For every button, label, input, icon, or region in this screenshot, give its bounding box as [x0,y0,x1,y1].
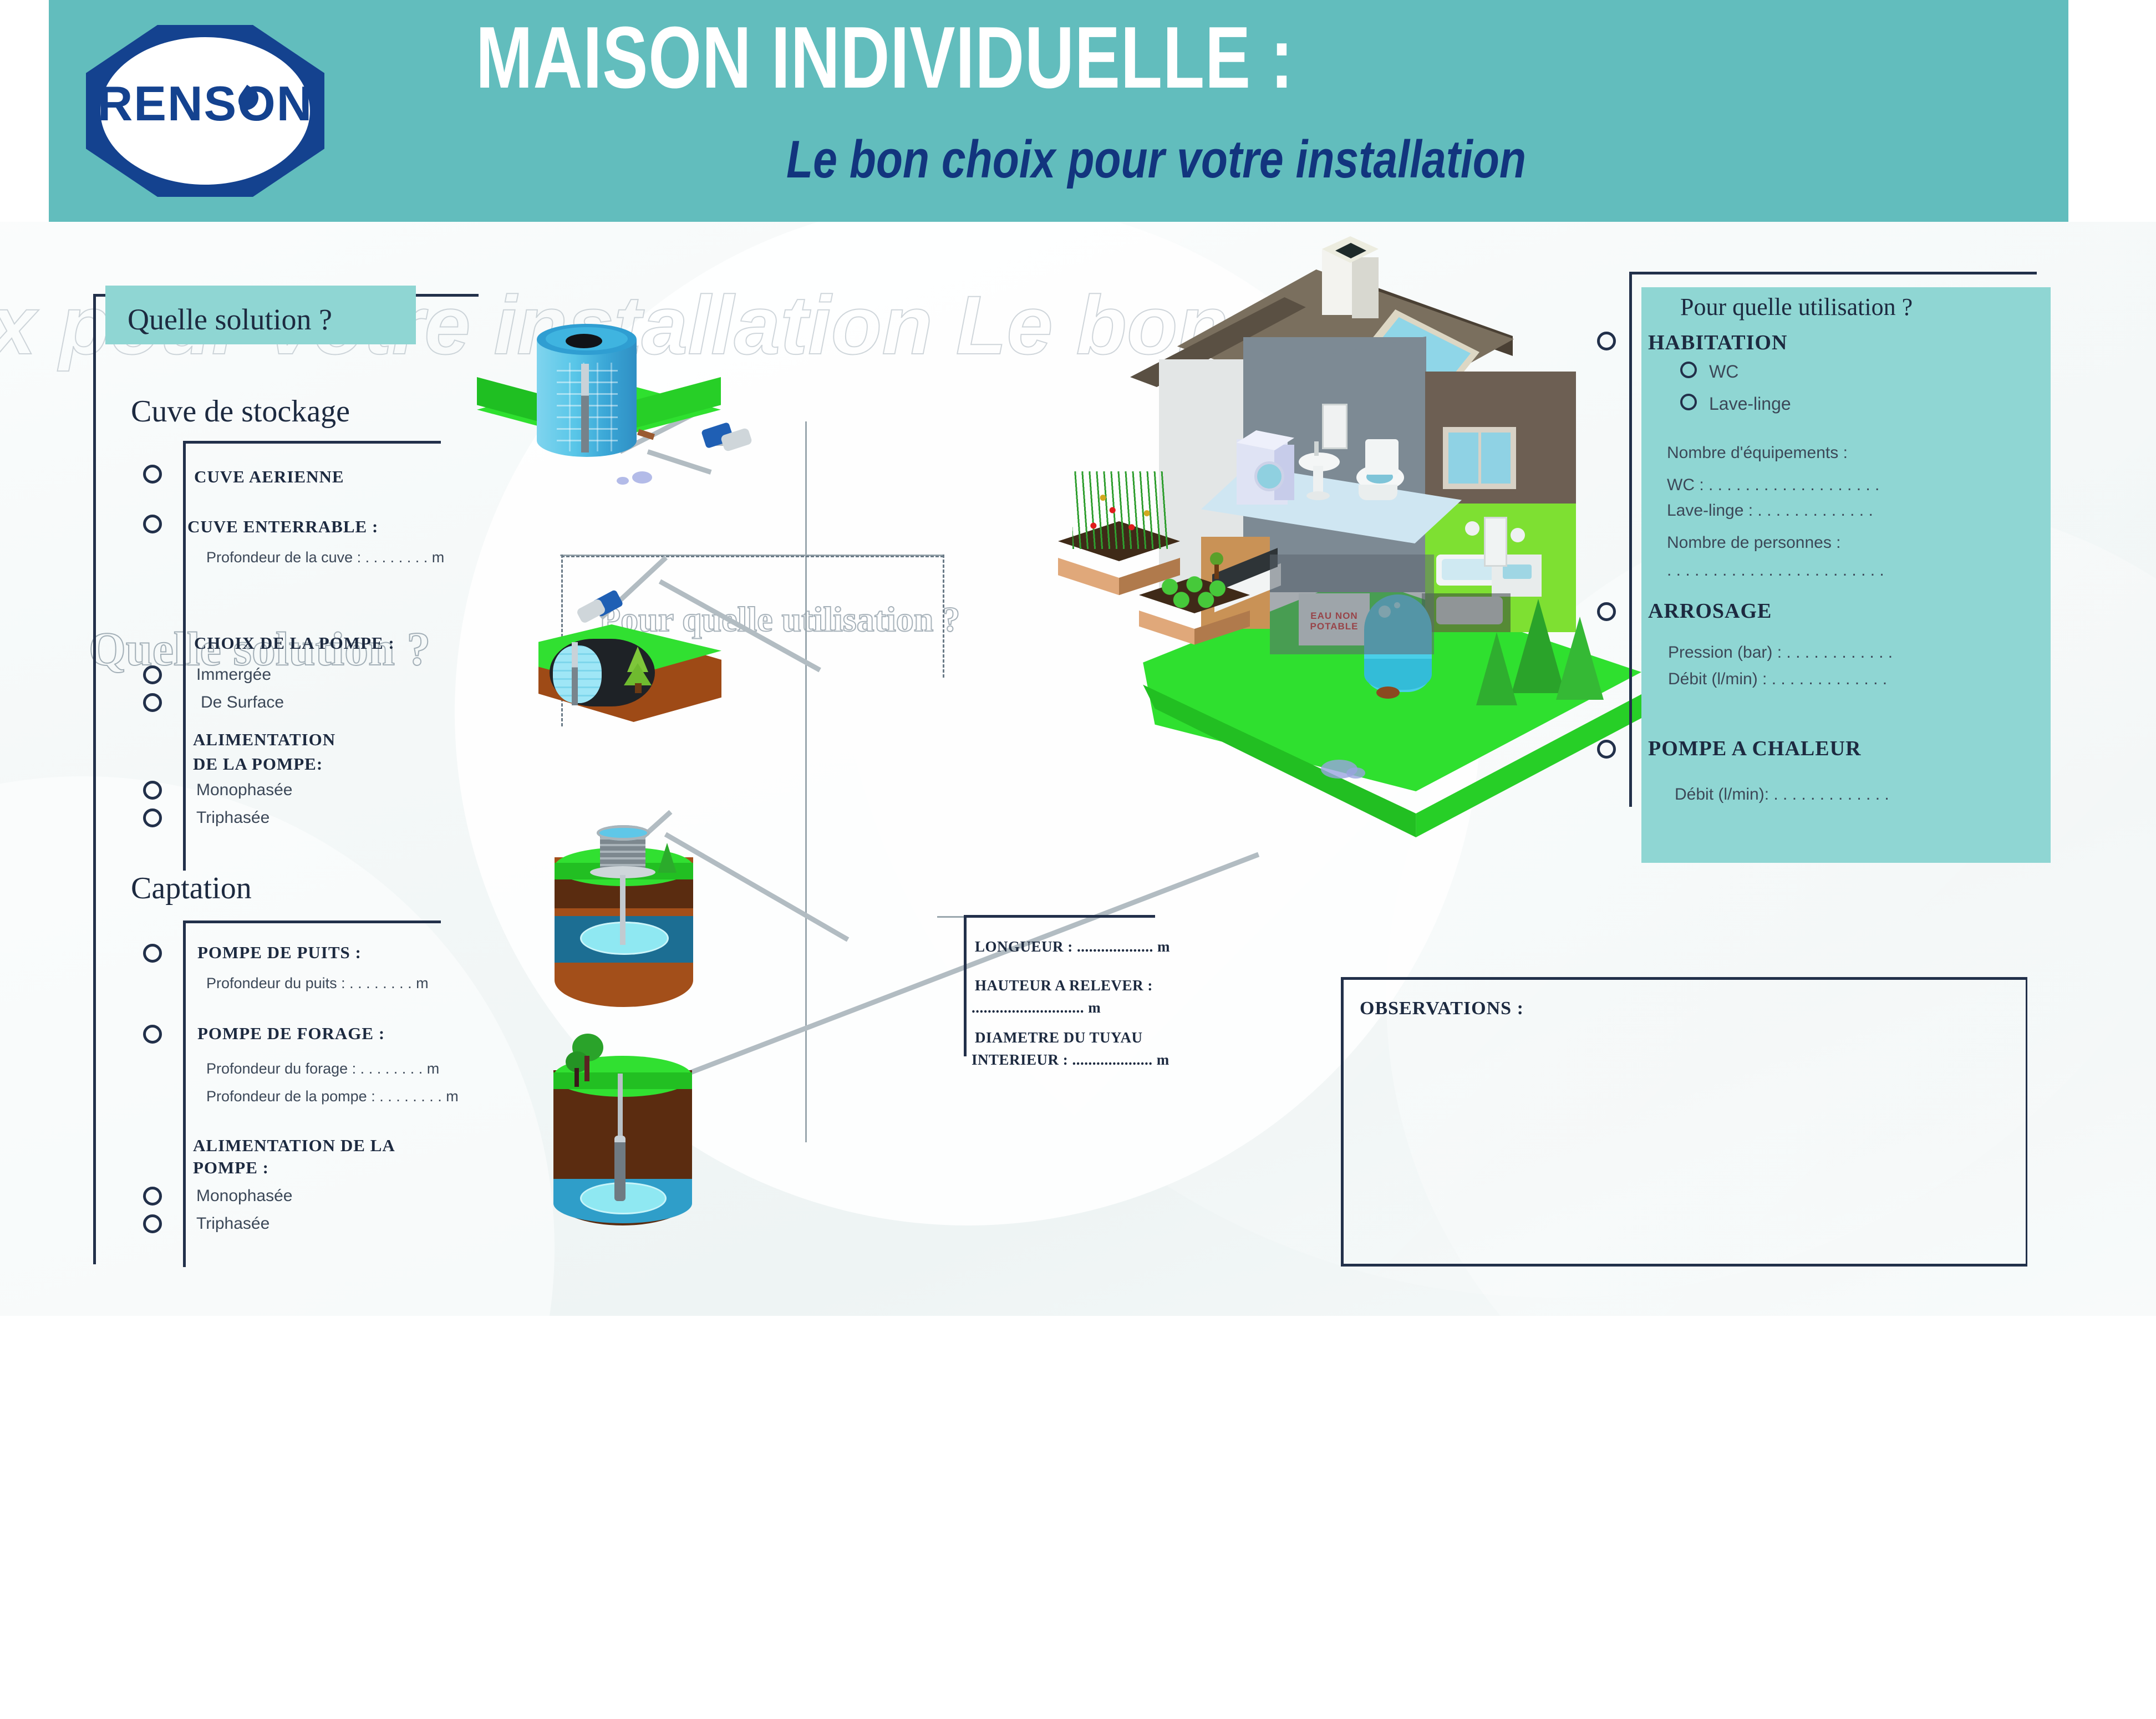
field-profondeur-cuve[interactable]: Profondeur de la cuve : . . . . . . . . … [206,549,444,566]
label-pompe-de-puits: POMPE DE PUITS : [197,943,362,963]
radio-storage-triphasee[interactable] [143,808,162,827]
observations-label: OBSERVATIONS : [1360,998,1524,1019]
radio-cuve-enterrable[interactable] [143,515,162,533]
field-longueur[interactable]: LONGUEUR : ................... m [975,938,1170,955]
well-pump-illustration [549,832,726,1031]
storage-supply-heading-line1: ALIMENTATION [193,730,335,750]
field-nombre-personnes: Nombre de personnes : [1667,533,1841,552]
field-wc-count[interactable]: WC : . . . . . . . . . . . . . . . . . .… [1667,476,1879,495]
field-profondeur-forage[interactable]: Profondeur du forage : . . . . . . . . m [206,1060,439,1077]
page-header: MAISON INDIVIDUELLE : Le bon choix pour … [49,0,2068,222]
radio-pompe-de-forage[interactable] [143,1025,162,1044]
label-capture-monophasee: Monophasée [196,1187,292,1206]
field-profondeur-puits[interactable]: Profondeur du puits : . . . . . . . . m [206,975,429,992]
radio-habitation[interactable] [1597,332,1616,350]
field-lave-linge-count[interactable]: Lave-linge : . . . . . . . . . . . . . [1667,501,1873,520]
connector-dashed-right [943,555,944,678]
left-panel-title: Quelle solution ? [128,302,332,337]
field-debit-pompe-chaleur[interactable]: Débit (l/min): . . . . . . . . . . . . . [1675,785,1889,804]
label-cuve-aerienne: CUVE AERIENNE [194,467,344,487]
field-hauteur-a-relever-value[interactable]: ............................ m [972,999,1101,1016]
field-diametre-tuyau-line1: DIAMETRE DU TUYAU [975,1029,1143,1046]
capture-heading: Captation [131,871,252,906]
page-subtitle: Le bon choix pour votre installation [786,133,1787,186]
radio-lave-linge[interactable] [1680,394,1697,410]
radio-pompe-de-surface[interactable] [143,693,162,712]
radio-pompe-immergee[interactable] [143,665,162,684]
label-arrosage: ARROSAGE [1648,599,1772,623]
logo-wordmark: RENSON [86,79,324,128]
header-left-margin [0,0,49,222]
header-right-margin [2068,0,2156,222]
aerial-storage-tank-illustration [471,311,738,494]
field-debit-arrosage[interactable]: Débit (l/min) : . . . . . . . . . . . . … [1668,670,1887,689]
label-wc: WC [1709,362,1738,382]
renson-logo: RENSON [86,25,324,197]
label-capture-triphasee: Triphasée [196,1214,269,1233]
field-nombre-equipements: Nombre d'équipements : [1667,444,1848,462]
buried-storage-tank-illustration [535,577,768,760]
radio-wc[interactable] [1680,362,1697,378]
field-hauteur-a-relever: HAUTEUR A RELEVER : [975,977,1153,994]
cutaway-house-illustration: EAU NON POTABLE [1048,244,1647,821]
label-lave-linge: Lave-linge [1709,394,1791,414]
label-storage-triphasee: Triphasée [196,808,269,827]
radio-storage-monophasee[interactable] [143,781,162,800]
page-title: MAISON INDIVIDUELLE : [476,14,1557,101]
borehole-pump-illustration [549,1031,726,1253]
right-panel-title: Pour quelle utilisation ? [1680,293,1913,321]
field-nombre-personnes-value[interactable]: . . . . . . . . . . . . . . . . . . . . … [1667,561,1884,580]
label-pompe-de-forage: POMPE DE FORAGE : [197,1024,385,1044]
label-cuve-enterrable: CUVE ENTERRABLE : [187,517,378,537]
radio-cuve-aerienne[interactable] [143,465,162,484]
pump-choice-heading: CHOIX DE LA POMPE : [194,633,395,653]
storage-heading: Cuve de stockage [131,394,350,429]
radio-pompe-de-puits[interactable] [143,944,162,963]
radio-capture-triphasee[interactable] [143,1214,162,1233]
storage-supply-heading-line2: DE LA POMPE: [193,754,323,774]
label-pompe-a-chaleur: POMPE A CHALEUR [1648,736,1861,761]
label-pompe-immergee: Immergée [196,665,271,684]
storage-subframe [183,441,441,871]
label-pompe-de-surface: De Surface [201,693,284,712]
field-pression-bar[interactable]: Pression (bar) : . . . . . . . . . . . . [1668,643,1893,662]
field-diametre-tuyau-line2[interactable]: INTERIEUR : .................... m [972,1051,1169,1069]
field-profondeur-pompe[interactable]: Profondeur de la pompe : . . . . . . . .… [206,1088,459,1105]
label-habitation: HABITATION [1648,330,1787,355]
connector-vertical-main [805,421,807,1142]
radio-capture-monophasee[interactable] [143,1187,162,1206]
connector-dashed-top [561,556,944,557]
radio-pompe-a-chaleur[interactable] [1597,740,1616,759]
label-storage-monophasee: Monophasée [196,781,292,800]
radio-arrosage[interactable] [1597,602,1616,621]
capture-supply-heading-line2: POMPE : [193,1158,269,1178]
observations-frame [1341,977,2027,1267]
capture-supply-heading-line1: ALIMENTATION DE LA [193,1136,395,1156]
